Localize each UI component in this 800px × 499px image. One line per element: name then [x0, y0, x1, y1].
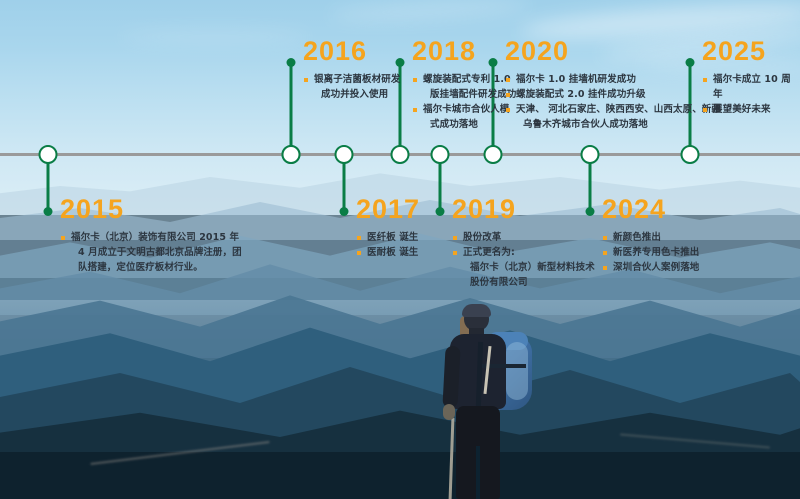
entry-bullet-list: 医纤板 诞生医耐板 诞生 — [356, 230, 420, 260]
entry-bullet-list: 银离子洁菌板材研发成功并投入使用 — [303, 72, 400, 102]
cap — [462, 304, 491, 317]
entry-bullet-list: 福尔卡（北京）装饰有限公司 2015 年4 月成立于文明古都北京品牌注册，团队搭… — [60, 230, 242, 275]
entry-bullet-continuation: 式成功落地 — [412, 117, 516, 132]
entry-bullet-item: 福尔卡（北京）装饰有限公司 2015 年 — [60, 230, 242, 245]
entry-year-label: 2025 — [702, 38, 800, 65]
timeline-node-2017[interactable] — [335, 145, 354, 164]
hiker-figure — [420, 306, 550, 499]
entry-bullet-item: 银离子洁菌板材研发 — [303, 72, 400, 87]
trekking-pole — [449, 418, 455, 499]
timeline-entry-2024: 2024新颜色推出新医养专用色卡推出深圳合伙人案例落地 — [602, 196, 699, 275]
entry-year-label: 2016 — [303, 38, 400, 65]
timeline-node-2025[interactable] — [681, 145, 700, 164]
entry-bullet-continuation: 股份有限公司 — [452, 275, 595, 290]
timeline-stem-dot — [287, 58, 296, 67]
entry-bullet-continuation: 成功并投入使用 — [303, 87, 400, 102]
entry-bullet-list: 螺旋装配式专利 1.0版挂墙配件研发成功福尔卡城市合伙人模式成功落地 — [412, 72, 516, 132]
entry-bullet-list: 福尔卡 1.0 挂墙机研发成功螺旋装配式 2.0 挂件成功升级天津、 河北石家庄… — [505, 72, 721, 132]
entry-bullet-item: 正式更名为: — [452, 245, 595, 260]
timeline-entry-2018: 2018螺旋装配式专利 1.0版挂墙配件研发成功福尔卡城市合伙人模式成功落地 — [412, 38, 516, 132]
timeline-entry-2017: 2017医纤板 诞生医耐板 诞生 — [356, 196, 420, 260]
entry-bullet-item: 福尔卡城市合伙人模 — [412, 102, 516, 117]
entry-bullet-item: 新颜色推出 — [602, 230, 699, 245]
entry-bullet-continuation: 版挂墙配件研发成功 — [412, 87, 516, 102]
timeline-entry-2020: 2020福尔卡 1.0 挂墙机研发成功螺旋装配式 2.0 挂件成功升级天津、 河… — [505, 38, 721, 132]
entry-year-label: 2024 — [602, 196, 699, 223]
entry-bullet-item: 深圳合伙人案例落地 — [602, 260, 699, 275]
entry-bullet-item: 展望美好未来 — [702, 102, 800, 117]
backpack-highlight — [506, 342, 528, 400]
entry-year-label: 2017 — [356, 196, 420, 223]
infographic-stage: 2015福尔卡（北京）装饰有限公司 2015 年4 月成立于文明古都北京品牌注册… — [0, 0, 800, 499]
timeline-entry-2019: 2019股份改革正式更名为:福尔卡（北京）新型材料技术股份有限公司 — [452, 196, 595, 290]
timeline-node-plain[interactable] — [282, 145, 301, 164]
entry-bullet-continuation: 乌鲁木齐城市合伙人成功落地 — [505, 117, 721, 132]
timeline-node-2018[interactable] — [391, 145, 410, 164]
hand — [443, 404, 455, 420]
entry-bullet-continuation: 福尔卡（北京）新型材料技术 — [452, 260, 595, 275]
entry-bullet-item: 新医养专用色卡推出 — [602, 245, 699, 260]
entry-bullet-item: 天津、 河北石家庄、陕西西安、山西太原、新疆 — [505, 102, 721, 117]
timeline-node-2015[interactable] — [39, 145, 58, 164]
timeline-entry-2025: 2025福尔卡成立 10 周年展望美好未来 — [702, 38, 800, 117]
entry-bullet-item: 股份改革 — [452, 230, 595, 245]
entry-year-label: 2015 — [60, 196, 242, 223]
entry-bullet-list: 福尔卡成立 10 周年展望美好未来 — [702, 72, 800, 117]
timeline-entry-2015: 2015福尔卡（北京）装饰有限公司 2015 年4 月成立于文明古都北京品牌注册… — [60, 196, 242, 275]
entry-bullet-item: 医耐板 诞生 — [356, 245, 420, 260]
entry-bullet-item: 医纤板 诞生 — [356, 230, 420, 245]
entry-year-label: 2020 — [505, 38, 721, 65]
timeline-stem-dot — [44, 207, 53, 216]
entry-bullet-item: 福尔卡 1.0 挂墙机研发成功 — [505, 72, 721, 87]
entry-year-label: 2019 — [452, 196, 595, 223]
entry-bullet-continuation: 队搭建，定位医疗板材行业。 — [60, 260, 242, 275]
timeline-node-2019[interactable] — [431, 145, 450, 164]
cloud — [120, 30, 310, 44]
entry-bullet-list: 新颜色推出新医养专用色卡推出深圳合伙人案例落地 — [602, 230, 699, 275]
timeline-node-2024[interactable] — [581, 145, 600, 164]
entry-bullet-continuation: 4 月成立于文明古都北京品牌注册，团 — [60, 245, 242, 260]
entry-bullet-item: 螺旋装配式 2.0 挂件成功升级 — [505, 87, 721, 102]
entry-bullet-item: 螺旋装配式专利 1.0 — [412, 72, 516, 87]
timeline-node-2020[interactable] — [484, 145, 503, 164]
timeline-stem — [290, 62, 293, 154]
leg-gap — [476, 446, 480, 499]
entry-bullet-list: 股份改革正式更名为:福尔卡（北京）新型材料技术股份有限公司 — [452, 230, 595, 290]
entry-bullet-item: 福尔卡成立 10 周年 — [702, 72, 800, 102]
timeline-entry-2016: 2016银离子洁菌板材研发成功并投入使用 — [303, 38, 400, 102]
entry-year-label: 2018 — [412, 38, 516, 65]
timeline-stem-dot — [340, 207, 349, 216]
timeline-stem-dot — [436, 207, 445, 216]
